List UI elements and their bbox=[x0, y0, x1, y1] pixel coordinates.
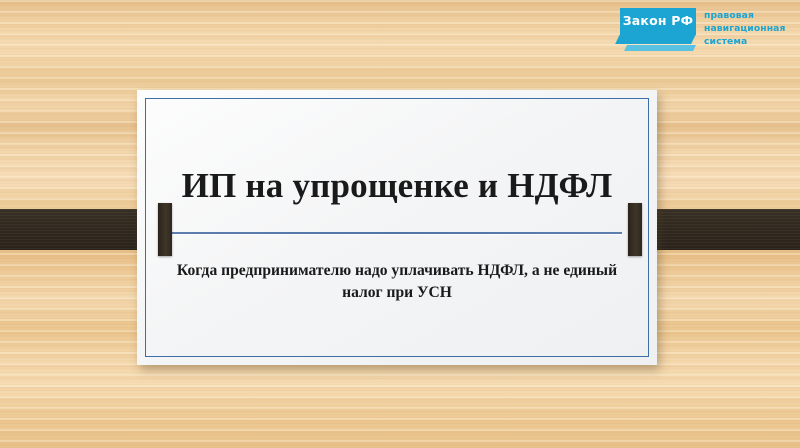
logo-badge: Закон РФ bbox=[620, 8, 696, 35]
logo-swoosh-secondary-icon bbox=[624, 45, 696, 51]
logo-tagline-line-1: правовая bbox=[704, 9, 785, 22]
ribbon-fold-right bbox=[628, 203, 642, 256]
logo-mark-icon: Закон РФ bbox=[620, 8, 696, 52]
ribbon-fold-left bbox=[158, 203, 172, 256]
logo-tagline: правовая навигационная система bbox=[704, 9, 785, 48]
logo-swoosh-primary-icon bbox=[615, 34, 696, 44]
presentation-slide: ИП на упрощенке и НДФЛ Когда предпринима… bbox=[0, 0, 800, 448]
slide-title: ИП на упрощенке и НДФЛ bbox=[159, 168, 635, 205]
slide-subtitle: Когда предпринимателю надо уплачивать НД… bbox=[167, 260, 627, 304]
logo-badge-label: Закон РФ bbox=[623, 15, 694, 28]
logo-tagline-line-3: система bbox=[704, 35, 785, 48]
card-content: ИП на упрощенке и НДФЛ Когда предпринима… bbox=[159, 90, 635, 365]
brand-logo: Закон РФ правовая навигационная система bbox=[620, 8, 792, 54]
title-divider bbox=[172, 232, 622, 234]
logo-tagline-line-2: навигационная bbox=[704, 22, 785, 35]
title-card: ИП на упрощенке и НДФЛ Когда предпринима… bbox=[137, 90, 657, 365]
